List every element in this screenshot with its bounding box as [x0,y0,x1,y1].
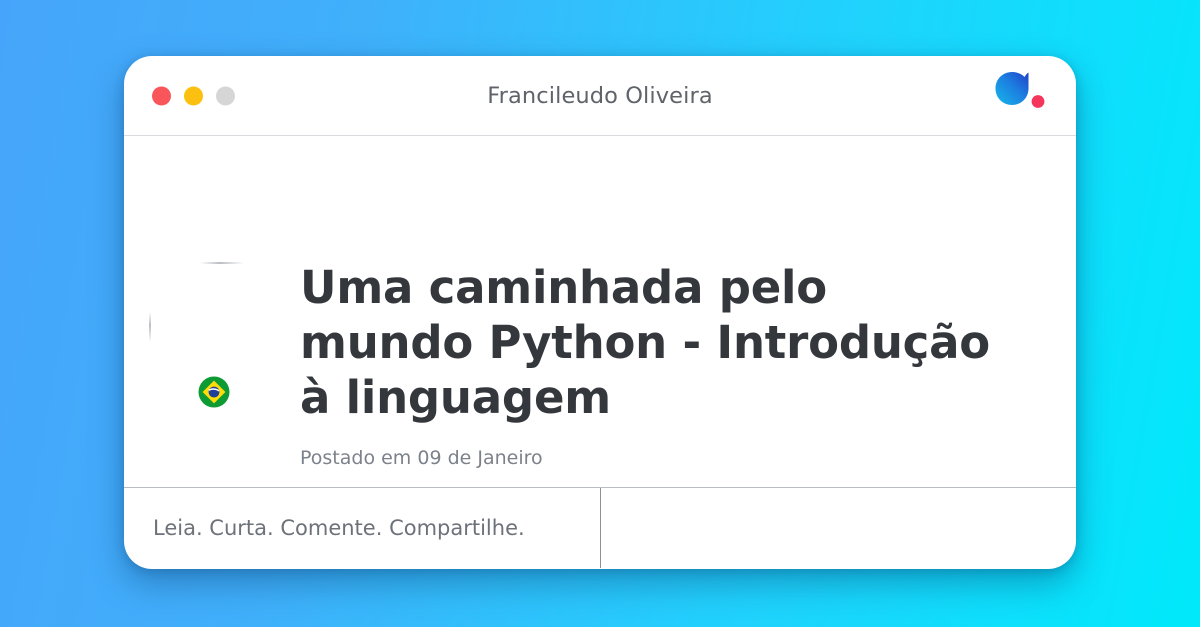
brazil-flag-icon [198,376,230,408]
article-body: Uma caminhada pelo mundo Python - Introd… [124,136,1076,487]
card-footer: Leia. Curta. Comente. Compartilhe. [124,487,1076,568]
footer-tagline: Leia. Curta. Comente. Compartilhe. [153,516,525,540]
window-title: Francileudo Oliveira [124,83,1076,109]
window-titlebar: Francileudo Oliveira [124,56,1076,136]
brand-logo-icon[interactable] [990,68,1052,124]
footer-left-cell: Leia. Curta. Comente. Compartilhe. [124,488,600,568]
browser-window-card: Francileudo Oliveira [124,56,1076,569]
article-post-date: Postado em 09 de Janeiro [300,447,1000,469]
placeholder-line-vertical [149,312,151,342]
article-title: Uma caminhada pelo mundo Python - Introd… [300,260,1000,425]
article-block: Uma caminhada pelo mundo Python - Introd… [300,260,1000,469]
placeholder-line-horizontal [200,262,244,264]
footer-right-cell [601,488,1076,568]
